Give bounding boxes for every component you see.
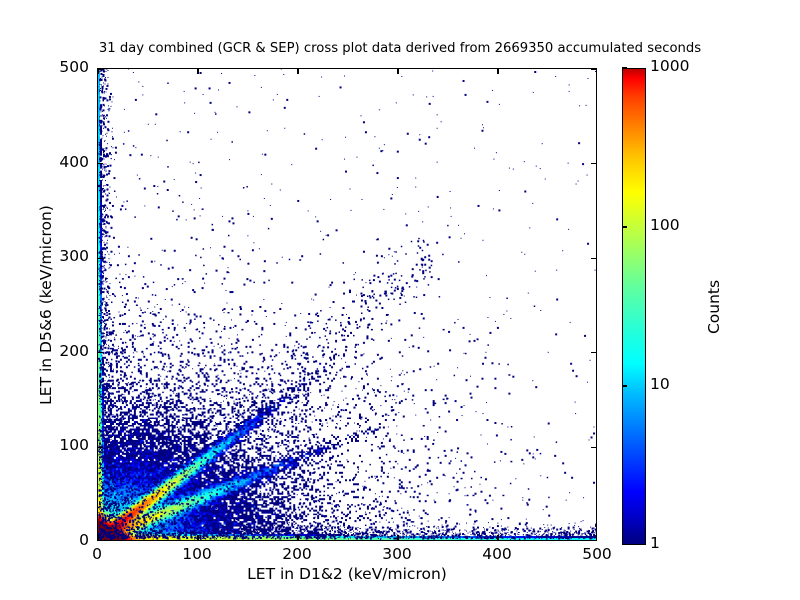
- x-tick-mark: [397, 535, 398, 540]
- y-tick-mark: [98, 258, 103, 259]
- x-tick-label: 300: [357, 545, 437, 563]
- x-tick-mark: [297, 535, 298, 540]
- colorbar-tick-mark: [622, 385, 627, 386]
- x-tick-label: 200: [257, 545, 337, 563]
- colorbar-tick-label: 100: [650, 216, 680, 234]
- y-tick-mark: [591, 447, 596, 448]
- x-tick-mark: [197, 535, 198, 540]
- y-tick-mark: [591, 163, 596, 164]
- y-tick-mark: [98, 163, 103, 164]
- figure-canvas: 31 day combined (GCR & SEP) cross plot d…: [0, 0, 800, 600]
- y-axis-title: LET in D5&6 (keV/micron): [37, 205, 55, 405]
- x-tick-label: 100: [157, 545, 237, 563]
- colorbar-title: Counts: [705, 279, 723, 333]
- colorbar[interactable]: [622, 68, 646, 545]
- x-tick-label: 400: [457, 545, 537, 563]
- x-tick-label: 500: [557, 545, 637, 563]
- scatter-density-plot: [98, 69, 596, 540]
- x-axis-title: LET in D1&2 (keV/micron): [97, 565, 597, 583]
- colorbar-tick-label: 1000: [650, 57, 689, 75]
- colorbar-tick-label: 1: [650, 534, 660, 552]
- y-tick-mark: [98, 68, 103, 69]
- y-tick-mark: [98, 352, 103, 353]
- x-tick-mark: [197, 69, 198, 74]
- x-tick-label: 0: [57, 545, 137, 563]
- y-tick-mark: [591, 352, 596, 353]
- colorbar-tick-mark: [622, 67, 627, 68]
- x-tick-mark: [397, 69, 398, 74]
- plot-title-line-1: 31 day combined (GCR & SEP) cross plot d…: [0, 40, 800, 57]
- colorbar-tick-mark: [622, 226, 627, 227]
- x-tick-mark: [297, 69, 298, 74]
- x-tick-mark: [497, 69, 498, 74]
- x-tick-mark: [97, 69, 98, 74]
- x-tick-mark: [97, 535, 98, 540]
- colorbar-tick-label: 10: [650, 375, 670, 393]
- x-tick-mark: [497, 535, 498, 540]
- plot-axes-area[interactable]: [97, 68, 597, 541]
- y-axis-title-wrapper: LET in D5&6 (keV/micron): [34, 68, 58, 541]
- y-tick-mark: [591, 68, 596, 69]
- colorbar-title-wrapper: Counts: [702, 68, 726, 545]
- y-tick-mark: [591, 258, 596, 259]
- y-tick-mark: [98, 447, 103, 448]
